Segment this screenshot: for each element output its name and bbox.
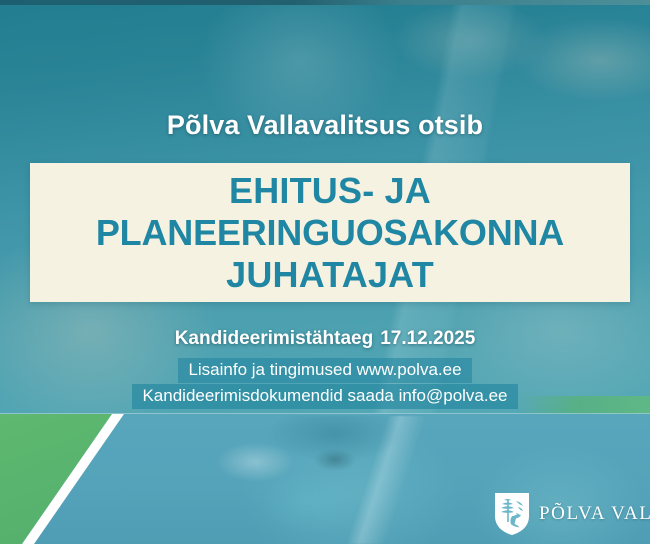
logo-text: PÕLVA VALD xyxy=(539,503,650,525)
info-line-website[interactable]: Lisainfo ja tingimused www.polva.ee xyxy=(178,358,471,383)
job-title-line-2: PLANEERINGUOSAKONNA xyxy=(96,212,564,254)
info-line-email[interactable]: Kandideerimisdokumendid saada info@polva… xyxy=(132,384,517,409)
green-diagonal-wedge xyxy=(0,414,190,544)
job-advertisement-poster: Põlva Vallavalitsus otsib EHITUS- JA PLA… xyxy=(0,0,650,544)
application-deadline: Kandideerimistähtaeg17.12.2025 xyxy=(0,328,650,350)
kingfisher-bird-photo xyxy=(215,416,505,544)
job-title-box: EHITUS- JA PLANEERINGUOSAKONNA JUHATAJAT xyxy=(30,163,630,302)
contact-info-block: Lisainfo ja tingimused www.polva.ee Kand… xyxy=(0,358,650,409)
polva-coat-of-arms-shield-icon xyxy=(494,492,530,536)
deadline-label: Kandideerimistähtaeg xyxy=(175,328,374,349)
top-edge-strip xyxy=(0,0,650,5)
poster-headline: Põlva Vallavalitsus otsib xyxy=(0,110,650,141)
polva-vald-logo: PÕLVA VALD xyxy=(494,492,650,536)
job-title-line-1: EHITUS- JA xyxy=(229,170,431,212)
deadline-date: 17.12.2025 xyxy=(380,328,475,349)
job-title-line-3: JUHATAJAT xyxy=(226,254,434,296)
